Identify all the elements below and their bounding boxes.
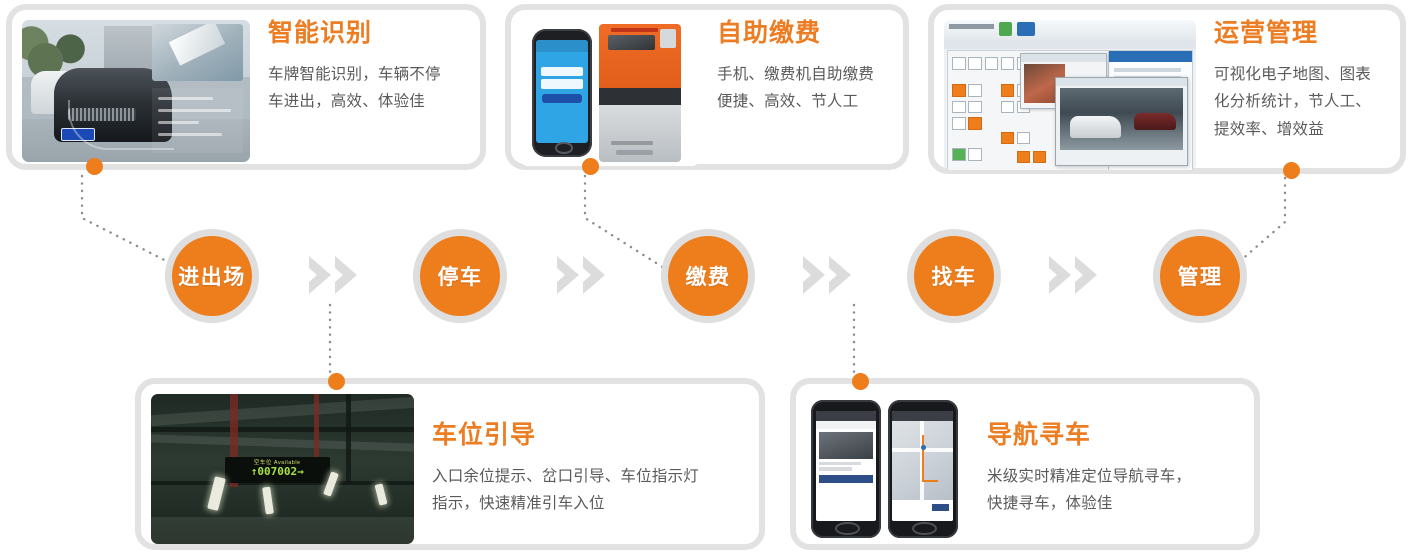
node-entry[interactable]: 进出场 bbox=[165, 229, 259, 323]
node-label: 进出场 bbox=[178, 261, 246, 291]
chevron-3-icon bbox=[799, 253, 861, 297]
card-selfpay[interactable]: 自助缴费 手机、缴费机自助缴费 便捷、高效、节人工 bbox=[505, 4, 909, 170]
navigation-phones-photo bbox=[806, 394, 969, 544]
card-management[interactable]: 运营管理 可视化电子地图、图表 化分析统计，节人工、 提效率、增效益 bbox=[928, 4, 1406, 174]
management-software-screenshot bbox=[944, 20, 1196, 170]
connector-dot-card1 bbox=[86, 158, 103, 175]
chevron-2-icon bbox=[553, 253, 615, 297]
node-label: 找车 bbox=[932, 261, 977, 291]
card-title: 导航寻车 bbox=[987, 422, 1234, 450]
card-desc-line: 入口余位提示、岔口引导、车位指示灯 bbox=[432, 463, 739, 491]
connector-dot-card4 bbox=[328, 373, 345, 390]
card-desc-line: 手机、缴费机自助缴费 bbox=[717, 61, 883, 89]
node-pay[interactable]: 缴费 bbox=[661, 229, 755, 323]
card-lpr[interactable]: 智能识别 车牌智能识别，车辆不停 车进出，高效、体验佳 bbox=[6, 4, 486, 170]
license-plate-recognition-photo bbox=[22, 20, 250, 162]
card-desc-line: 车牌智能识别，车辆不停 bbox=[268, 61, 460, 89]
chevron-1-icon bbox=[305, 253, 367, 297]
card-title: 车位引导 bbox=[432, 422, 739, 450]
node-label: 缴费 bbox=[686, 261, 731, 291]
sign-count: 007002 bbox=[257, 465, 297, 478]
card-description: 手机、缴费机自助缴费 便捷、高效、节人工 bbox=[717, 61, 883, 116]
card-desc-line: 快捷寻车，体验佳 bbox=[987, 490, 1234, 518]
card-title: 自助缴费 bbox=[717, 20, 883, 48]
connector-card1-to-entry bbox=[82, 176, 180, 268]
chevron-4-icon bbox=[1045, 253, 1107, 297]
card-desc-line: 化分析统计，节人工、 bbox=[1214, 88, 1380, 116]
card-desc-line: 车进出，高效、体验佳 bbox=[268, 88, 460, 116]
connector-dot-card3 bbox=[1283, 162, 1300, 179]
card-description: 可视化电子地图、图表 化分析统计，节人工、 提效率、增效益 bbox=[1214, 61, 1380, 144]
card-desc-line: 便捷、高效、节人工 bbox=[717, 88, 883, 116]
connector-dot-card2 bbox=[582, 158, 599, 175]
node-find[interactable]: 找车 bbox=[907, 229, 1001, 323]
connector-dot-card5 bbox=[852, 373, 869, 390]
phone-and-payment-kiosk-photo bbox=[521, 20, 699, 166]
card-navigation[interactable]: 导航寻车 米级实时精准定位导航寻车， 快捷寻车，体验佳 bbox=[790, 378, 1260, 550]
card-title: 运营管理 bbox=[1214, 20, 1380, 48]
node-manage[interactable]: 管理 bbox=[1153, 229, 1247, 323]
card-desc-line: 米级实时精准定位导航寻车， bbox=[987, 463, 1234, 491]
parking-garage-guidance-sign-photo: 空车位 Available ↑007002→ bbox=[151, 394, 414, 544]
card-desc-line: 指示，快速精准引车入位 bbox=[432, 490, 739, 518]
card-title: 智能识别 bbox=[268, 20, 460, 48]
guidance-sign: 空车位 Available ↑007002→ bbox=[225, 457, 330, 483]
card-description: 米级实时精准定位导航寻车， 快捷寻车，体验佳 bbox=[987, 463, 1234, 518]
card-desc-line: 可视化电子地图、图表 bbox=[1214, 61, 1380, 89]
infographic-stage: 智能识别 车牌智能识别，车辆不停 车进出，高效、体验佳 bbox=[0, 0, 1410, 557]
node-label: 停车 bbox=[438, 261, 483, 291]
card-description: 车牌智能识别，车辆不停 车进出，高效、体验佳 bbox=[268, 61, 460, 116]
card-description: 入口余位提示、岔口引导、车位指示灯 指示，快速精准引车入位 bbox=[432, 463, 739, 518]
node-park[interactable]: 停车 bbox=[413, 229, 507, 323]
node-label: 管理 bbox=[1178, 261, 1223, 291]
card-desc-line: 提效率、增效益 bbox=[1214, 116, 1380, 144]
card-guidance[interactable]: 空车位 Available ↑007002→ 车位引导 入口余位提示、岔口引导、… bbox=[135, 378, 765, 550]
